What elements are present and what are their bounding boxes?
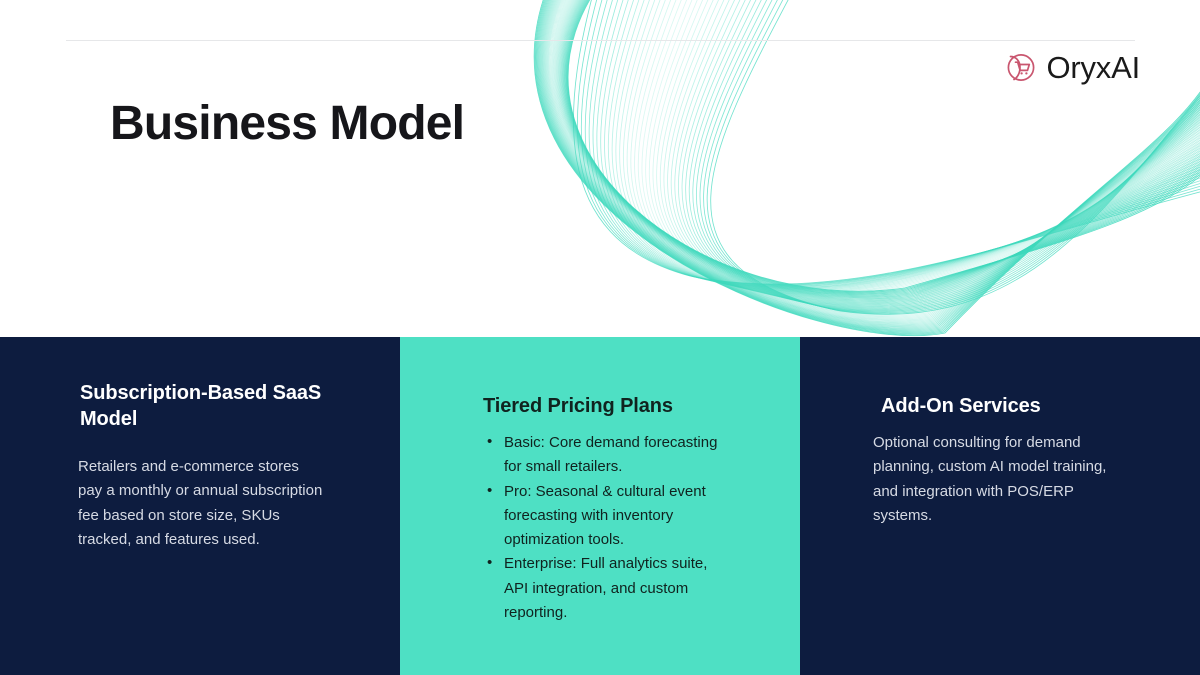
slide: OryxAI Business Model Subscription-Based… [0,0,1200,675]
column-add-on-services: Add-On Services Optional consulting for … [800,337,1200,675]
column-heading: Subscription-Based SaaS Model [80,380,370,432]
column-subscription-saas: Subscription-Based SaaS Model Retailers … [0,337,400,675]
slide-header: OryxAI Business Model [0,0,1200,337]
column-body: Basic: Core demand forecasting for small… [485,431,725,625]
pricing-bullet-list: Basic: Core demand forecasting for small… [485,431,725,625]
list-item: Enterprise: Full analytics suite, API in… [485,552,725,625]
column-heading: Tiered Pricing Plans [483,393,783,419]
page-title: Business Model [110,96,464,151]
header-divider [66,40,1135,41]
brand-logo: OryxAI [1003,50,1140,84]
column-heading: Add-On Services [881,393,1041,419]
brand-name: OryxAI [1046,52,1140,83]
shopping-cart-circle-icon [1003,50,1037,84]
column-body: Retailers and e-commerce stores pay a mo… [78,455,326,552]
list-item: Basic: Core demand forecasting for small… [485,431,725,480]
content-columns: Subscription-Based SaaS Model Retailers … [0,337,1200,675]
column-body: Optional consulting for demand planning,… [873,431,1125,528]
list-item: Pro: Seasonal & cultural event forecasti… [485,480,725,553]
column-tiered-pricing: Tiered Pricing Plans Basic: Core demand … [400,337,800,675]
